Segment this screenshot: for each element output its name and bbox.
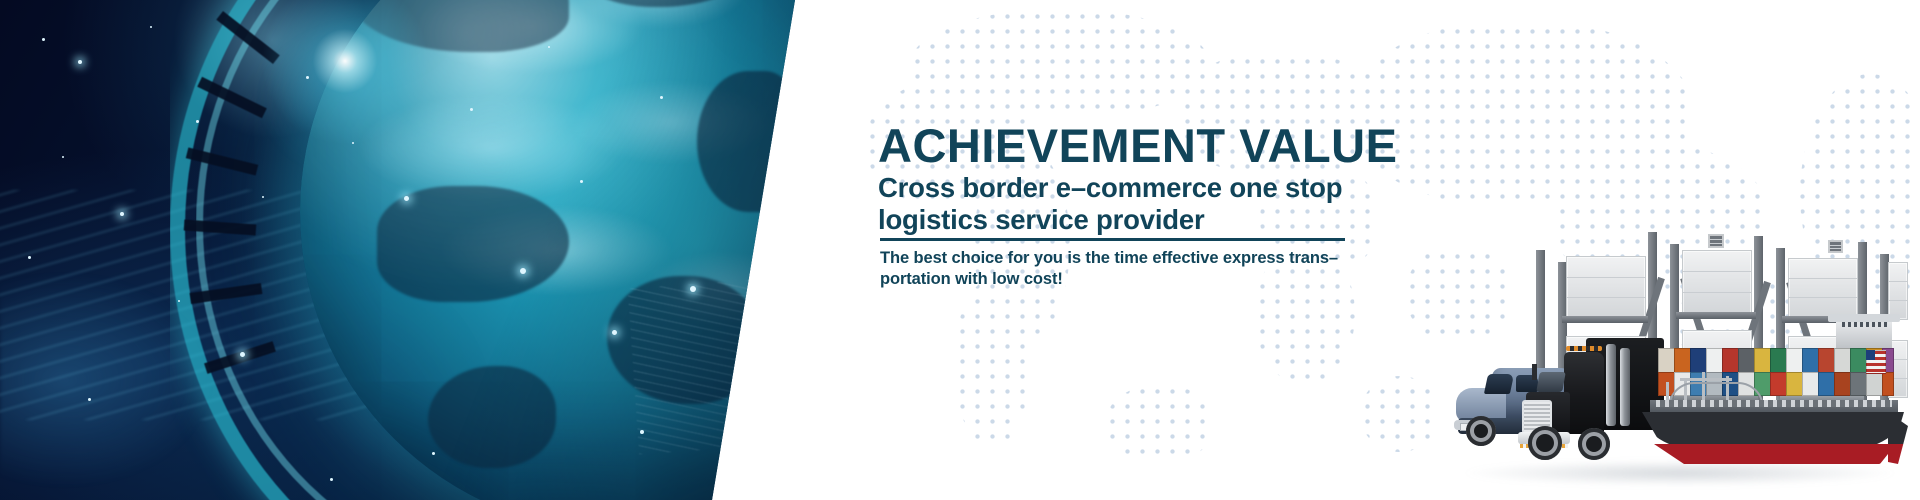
container xyxy=(1882,372,1894,396)
container-ship xyxy=(1640,320,1908,478)
star xyxy=(330,478,333,481)
pallet-box xyxy=(1888,262,1908,320)
star xyxy=(520,268,526,274)
pallet-box xyxy=(1682,250,1752,314)
star xyxy=(196,120,199,123)
star xyxy=(690,286,696,292)
star xyxy=(42,38,45,41)
body-paragraph: The best choice for you is the time effe… xyxy=(880,248,1338,291)
star xyxy=(262,196,264,198)
ship-hull-waterline xyxy=(1654,444,1896,466)
star xyxy=(120,212,124,216)
star xyxy=(432,452,435,455)
page-title: ACHIEVEMENT VALUE xyxy=(878,122,1397,169)
ship-deck-fittings xyxy=(1656,400,1892,407)
ship-bridge-windows xyxy=(1842,322,1888,327)
star xyxy=(580,180,583,183)
logistics-scene xyxy=(1440,220,1920,500)
truck-wheel-front xyxy=(1528,426,1562,460)
top-crate xyxy=(1828,240,1843,253)
star xyxy=(470,108,473,111)
star xyxy=(306,76,309,79)
star xyxy=(352,142,354,144)
ship-deck-crane-arm xyxy=(1680,378,1732,381)
star xyxy=(178,300,180,302)
star xyxy=(660,96,663,99)
pallet-box xyxy=(1788,258,1858,318)
ship-deck-mast xyxy=(1666,382,1669,400)
star xyxy=(78,60,82,64)
star xyxy=(88,398,91,401)
truck-wheel-rear xyxy=(1578,428,1610,460)
star xyxy=(28,256,31,259)
divider-rule xyxy=(880,238,1345,241)
exhaust-stack xyxy=(1606,344,1616,426)
truck-mirror xyxy=(1532,364,1537,380)
rack-beam xyxy=(1562,316,1648,323)
star xyxy=(62,156,64,158)
star xyxy=(150,26,152,28)
space-globe-panel xyxy=(0,0,800,500)
top-crate xyxy=(1708,234,1724,248)
ship-bridge-deck xyxy=(1828,314,1900,322)
truck-marker-lights xyxy=(1566,346,1602,351)
lens-flare xyxy=(250,0,440,156)
ship-container-row xyxy=(1658,348,1892,372)
subtitle: Cross border e–commerce one stop logisti… xyxy=(878,172,1342,236)
ship-flag-canton xyxy=(1866,350,1875,360)
star xyxy=(240,352,245,357)
star xyxy=(548,46,550,48)
star xyxy=(640,430,644,434)
exhaust-stack xyxy=(1620,348,1630,426)
achievement-value-banner: ACHIEVEMENT VALUE Cross border e–commerc… xyxy=(0,0,1920,500)
ship-bow-point xyxy=(1888,412,1908,464)
van-wheel-front xyxy=(1466,416,1496,446)
star xyxy=(612,330,617,335)
star xyxy=(404,196,409,201)
truck-windshield xyxy=(1536,372,1566,392)
van-windshield xyxy=(1484,374,1514,394)
rack-beam xyxy=(1676,312,1756,319)
pallet-box xyxy=(1566,256,1646,318)
truck-sleeper-cab xyxy=(1564,352,1604,434)
